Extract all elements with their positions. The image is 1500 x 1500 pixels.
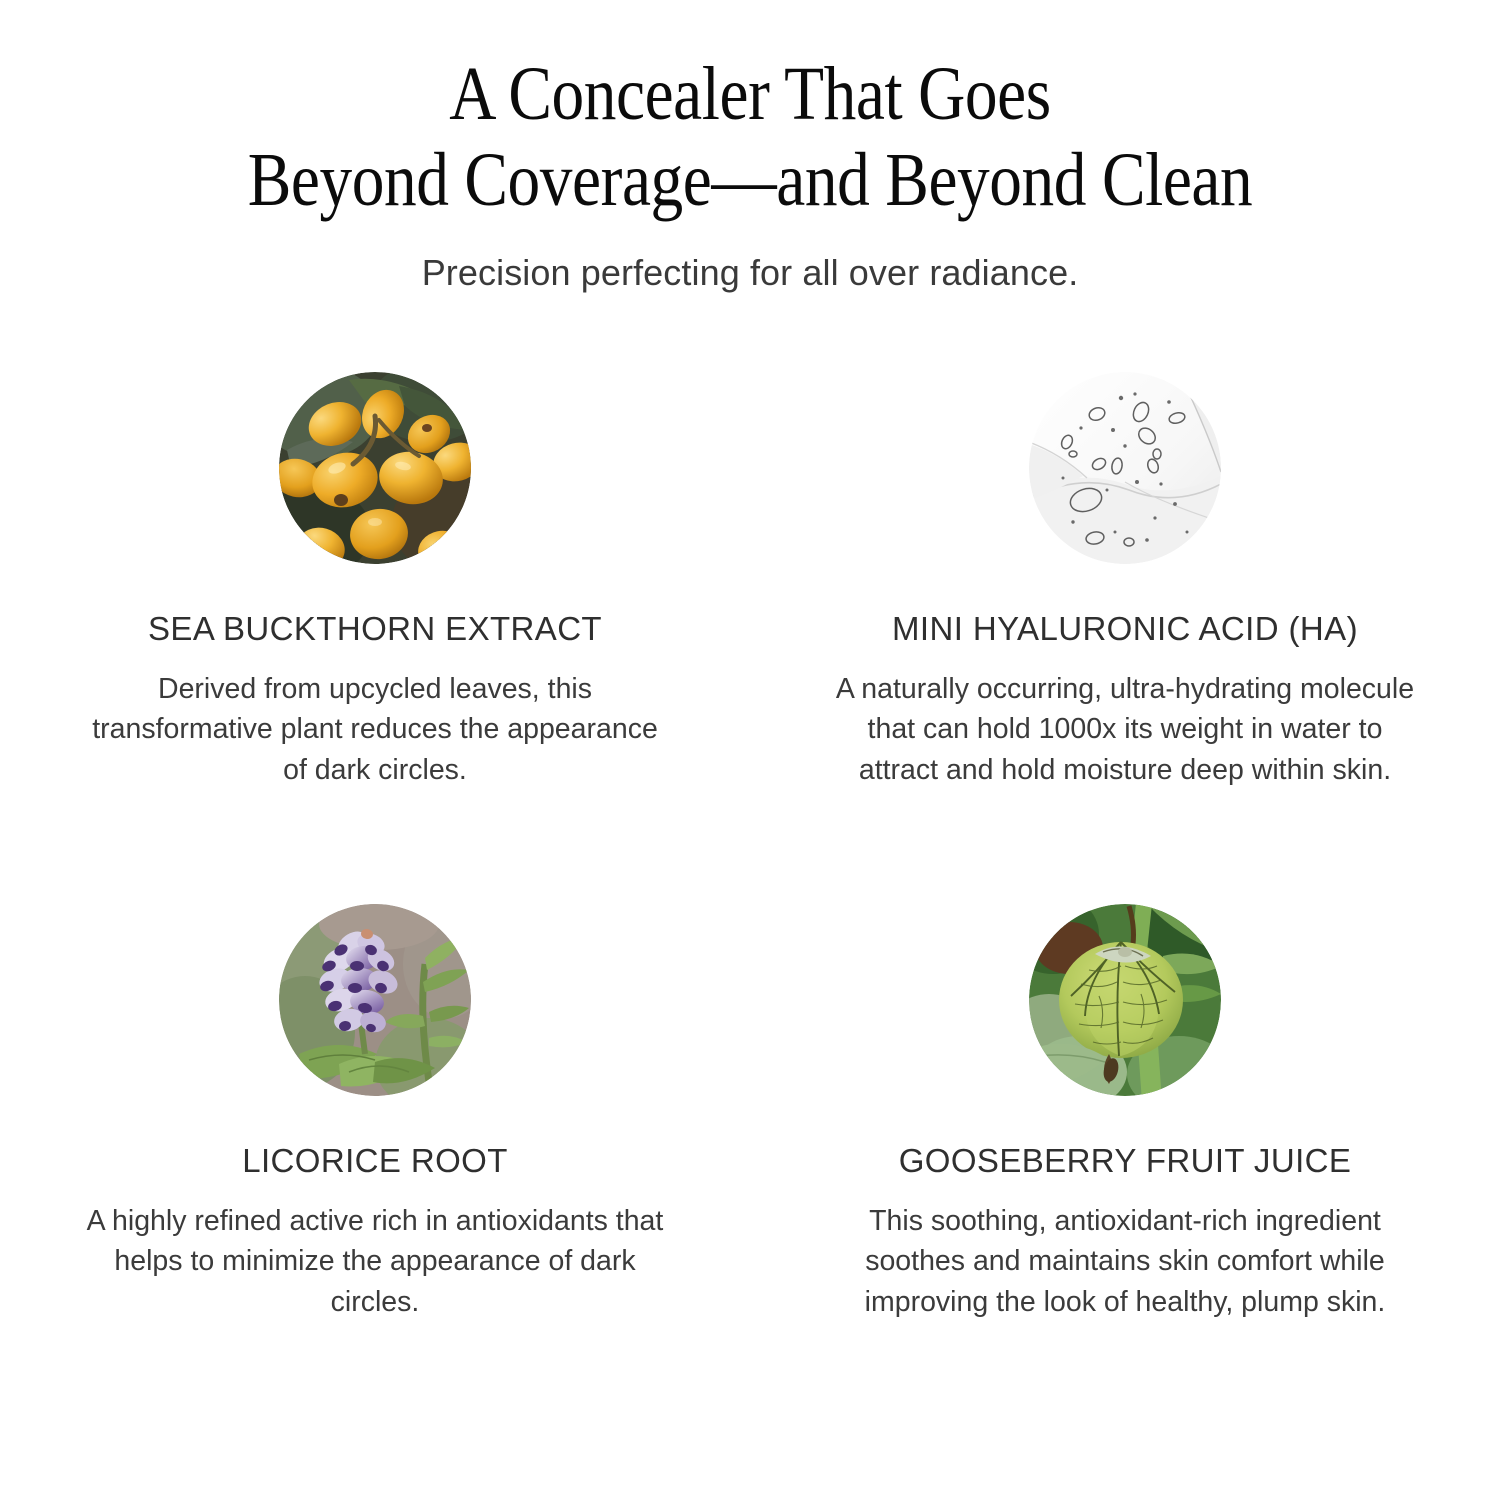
ingredient-description: A highly refined active rich in antioxid…: [85, 1201, 665, 1322]
page-title: A Concealer That Goes Beyond Coverage—an…: [105, 52, 1395, 224]
page-subtitle: Precision perfecting for all over radian…: [0, 252, 1500, 294]
headline-line-1: A Concealer That Goes: [105, 52, 1395, 138]
ingredient-card-gooseberry-fruit-juice: GOOSEBERRY FRUIT JUICE This soothing, an…: [750, 904, 1500, 1322]
ingredient-description: This soothing, antioxidant-rich ingredie…: [828, 1201, 1422, 1322]
ingredient-name: SEA BUCKTHORN EXTRACT: [148, 611, 602, 647]
ingredient-description: Derived from upcycled leaves, this trans…: [85, 669, 665, 790]
page-header: A Concealer That Goes Beyond Coverage—an…: [0, 0, 1500, 294]
sea-buckthorn-image: [279, 372, 471, 564]
ingredient-name: GOOSEBERRY FRUIT JUICE: [899, 1143, 1352, 1179]
ingredients-grid: SEA BUCKTHORN EXTRACT Derived from upcyc…: [0, 372, 1500, 1322]
gooseberry-image: [1029, 904, 1221, 1096]
ingredient-description: A naturally occurring, ultra-hydrating m…: [828, 669, 1422, 790]
ingredient-card-sea-buckthorn-extract: SEA BUCKTHORN EXTRACT Derived from upcyc…: [0, 372, 750, 904]
ingredient-name: MINI HYALURONIC ACID (HA): [892, 611, 1358, 647]
headline-line-2: Beyond Coverage—and Beyond Clean: [105, 138, 1395, 224]
hyaluronic-acid-gel-image: [1029, 372, 1221, 564]
ingredient-infographic-page: A Concealer That Goes Beyond Coverage—an…: [0, 0, 1500, 1500]
licorice-root-image: [279, 904, 471, 1096]
ingredient-card-mini-hyaluronic-acid: MINI HYALURONIC ACID (HA) A naturally oc…: [750, 372, 1500, 904]
ingredient-card-licorice-root: LICORICE ROOT A highly refined active ri…: [0, 904, 750, 1322]
ingredient-name: LICORICE ROOT: [242, 1143, 508, 1179]
